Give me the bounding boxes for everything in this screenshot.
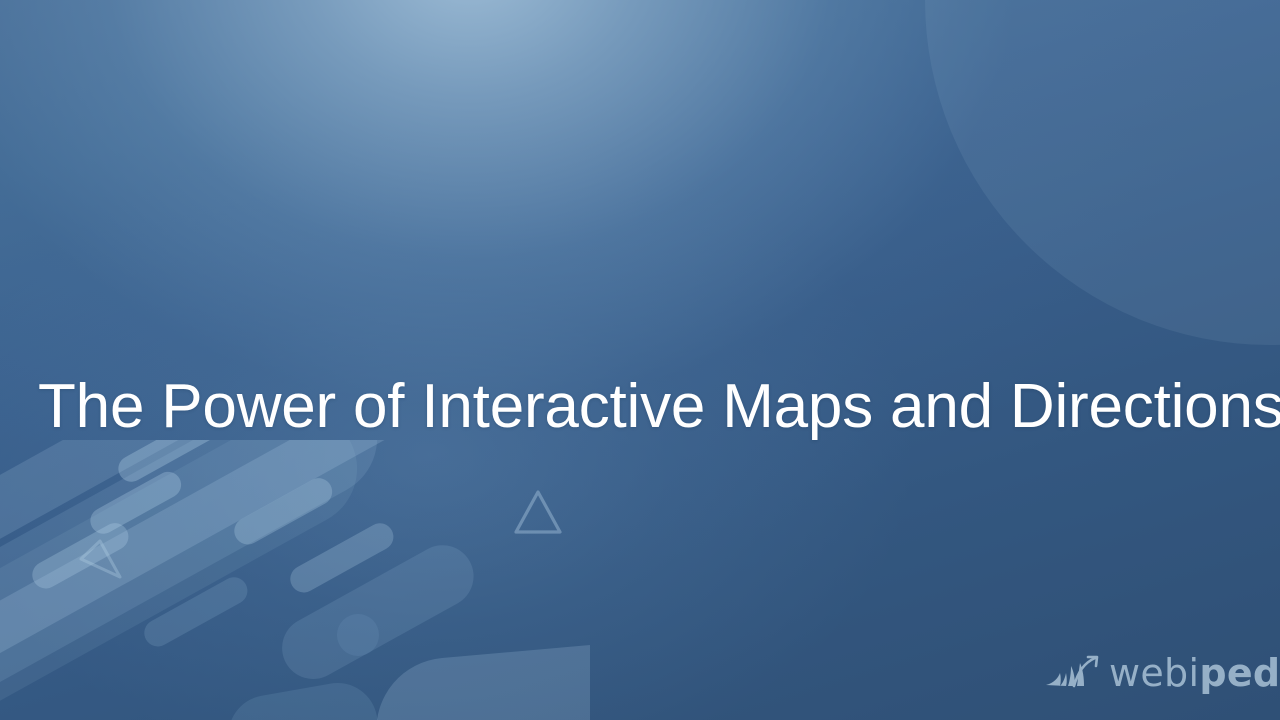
decorative-shape-cluster [0, 440, 590, 720]
decorative-rounded-block-bottom-right [370, 638, 590, 720]
brand-logo-wordmark: webipedia [1109, 654, 1280, 692]
brand-logo-word-light: webi [1109, 651, 1199, 695]
slide-title: The Power of Interactive Maps and Direct… [38, 368, 1253, 446]
brand-logo-word-bold: pedia [1199, 651, 1280, 695]
webipedia-swoosh-icon [1044, 652, 1104, 694]
corner-disc-decoration [925, 0, 1280, 345]
slide-canvas: The Power of Interactive Maps and Direct… [0, 0, 1280, 720]
triangle-outline-rotated-icon [76, 537, 124, 583]
brand-logo: webipedia [1044, 652, 1280, 694]
triangle-outline-icon [512, 487, 564, 537]
decorative-rounded-block-bottom-small [222, 677, 385, 720]
decorative-circle-dot [337, 614, 379, 656]
